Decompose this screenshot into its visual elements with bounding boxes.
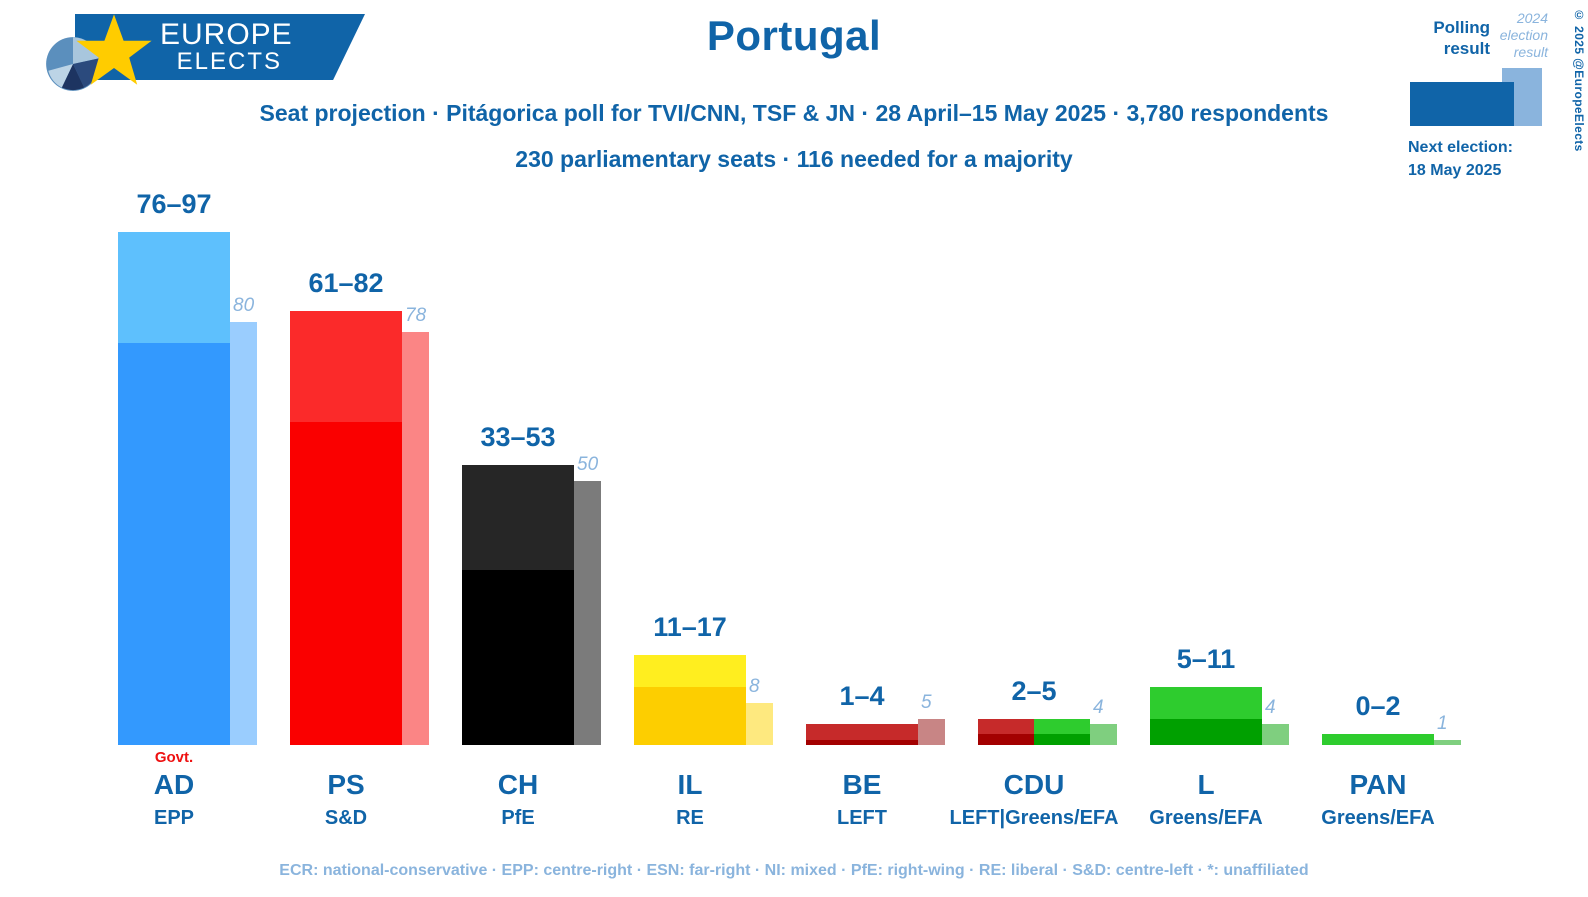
- party-label-ps: PS: [260, 769, 432, 801]
- election-result-label-ch: 50: [577, 454, 598, 476]
- range-label-ps: 61–82: [290, 268, 402, 299]
- party-label-l: L: [1120, 769, 1292, 801]
- election-result-label-il: 8: [749, 676, 760, 698]
- party-label-be: BE: [776, 769, 948, 801]
- bar-lower-range: [290, 422, 402, 745]
- bar-upper-range: [462, 465, 574, 571]
- bar-upper-range: [806, 724, 918, 740]
- bar-half-left: [978, 719, 1034, 745]
- bar-election-result-ps: [402, 332, 429, 745]
- bar-election-result-pan: [1434, 740, 1461, 745]
- seat-projection-chart: 76–9780Govt.ADEPP61–8278PSS&D33–5350CHPf…: [0, 0, 1588, 897]
- election-result-label-ad: 80: [233, 295, 254, 317]
- bar-lower-range: [978, 734, 1034, 745]
- government-marker: Govt.: [118, 749, 230, 766]
- bar-election-result-ch: [574, 481, 601, 746]
- election-result-label-l: 4: [1265, 697, 1276, 719]
- bar-lower-range: [634, 687, 746, 745]
- bar-lower-range: [1034, 734, 1090, 745]
- range-label-il: 11–17: [634, 612, 746, 643]
- bar-projection-ps: [290, 311, 402, 745]
- range-label-cdu: 2–5: [978, 676, 1090, 707]
- bar-lower-range: [806, 740, 918, 745]
- party-label-ad: AD: [88, 769, 260, 801]
- bar-lower-range: [118, 343, 230, 745]
- range-label-ad: 76–97: [118, 189, 230, 220]
- bar-election-result-cdu: [1090, 724, 1117, 745]
- bar-election-result-il: [746, 703, 773, 745]
- bar-projection-ch: [462, 465, 574, 745]
- range-label-pan: 0–2: [1322, 691, 1434, 722]
- eu-group-label-pan: Greens/EFA: [1277, 807, 1479, 830]
- election-result-label-be: 5: [921, 692, 932, 714]
- bar-upper-range: [634, 655, 746, 687]
- bar-upper-range: [290, 311, 402, 422]
- bar-upper-range: [1150, 687, 1262, 719]
- bar-projection-l: [1150, 687, 1262, 745]
- bar-upper-range: [1034, 719, 1090, 735]
- bar-projection-cdu: [978, 719, 1090, 745]
- bar-election-result-be: [918, 719, 945, 745]
- election-result-label-cdu: 4: [1093, 697, 1104, 719]
- bar-projection-ad: [118, 232, 230, 745]
- bar-lower-range: [462, 570, 574, 745]
- party-label-pan: PAN: [1292, 769, 1464, 801]
- bar-election-result-l: [1262, 724, 1289, 745]
- election-result-label-pan: 1: [1437, 713, 1448, 735]
- bar-half-right: [1034, 719, 1090, 745]
- bar-upper-range: [1322, 734, 1434, 745]
- party-label-il: IL: [604, 769, 776, 801]
- party-label-ch: CH: [432, 769, 604, 801]
- bar-projection-pan: [1322, 734, 1434, 745]
- range-label-l: 5–11: [1150, 644, 1262, 675]
- group-abbreviation-legend: ECR: national-conservative · EPP: centre…: [0, 862, 1588, 880]
- bar-upper-range: [118, 232, 230, 343]
- bar-projection-be: [806, 724, 918, 745]
- range-label-ch: 33–53: [462, 422, 574, 453]
- range-label-be: 1–4: [806, 681, 918, 712]
- party-label-cdu: CDU: [948, 769, 1120, 801]
- bar-projection-il: [634, 655, 746, 745]
- bar-election-result-ad: [230, 322, 257, 745]
- election-result-label-ps: 78: [405, 305, 426, 327]
- chart-canvas: EUROPE ELECTS Portugal Seat projection ·…: [0, 0, 1588, 897]
- bar-upper-range: [978, 719, 1034, 735]
- bar-lower-range: [1150, 719, 1262, 745]
